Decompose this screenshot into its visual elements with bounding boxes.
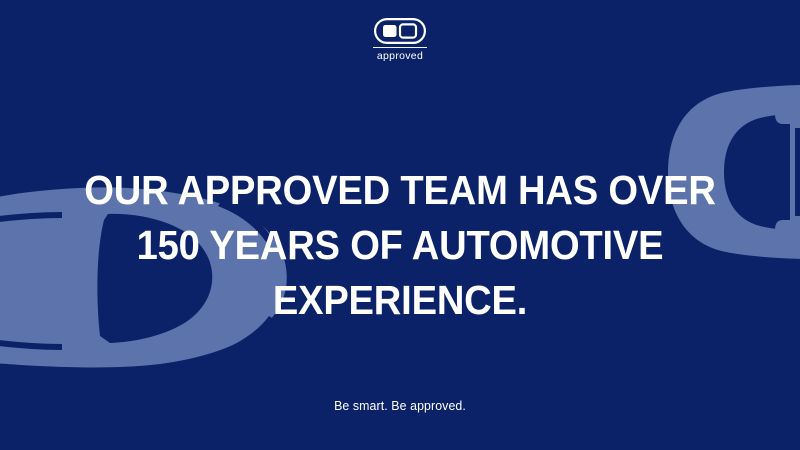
headline-line-2: 150 YEARS OF AUTOMOTIVE bbox=[28, 218, 772, 273]
headline-line-3: EXPERIENCE. bbox=[28, 273, 772, 328]
page-title: OUR APPROVED TEAM HAS OVER 150 YEARS OF … bbox=[28, 163, 772, 328]
approved-promo-slide: approved OUR APPROVED TEAM HAS OVER 150 … bbox=[0, 0, 800, 450]
headline-line-1: OUR APPROVED TEAM HAS OVER bbox=[28, 163, 772, 218]
car-top-view-icon bbox=[374, 18, 426, 44]
logo-divider bbox=[373, 47, 427, 48]
tagline: Be smart. Be approved. bbox=[20, 398, 780, 413]
brand-logo-lockup: approved bbox=[0, 18, 800, 63]
logo-wordmark: approved bbox=[377, 51, 423, 63]
